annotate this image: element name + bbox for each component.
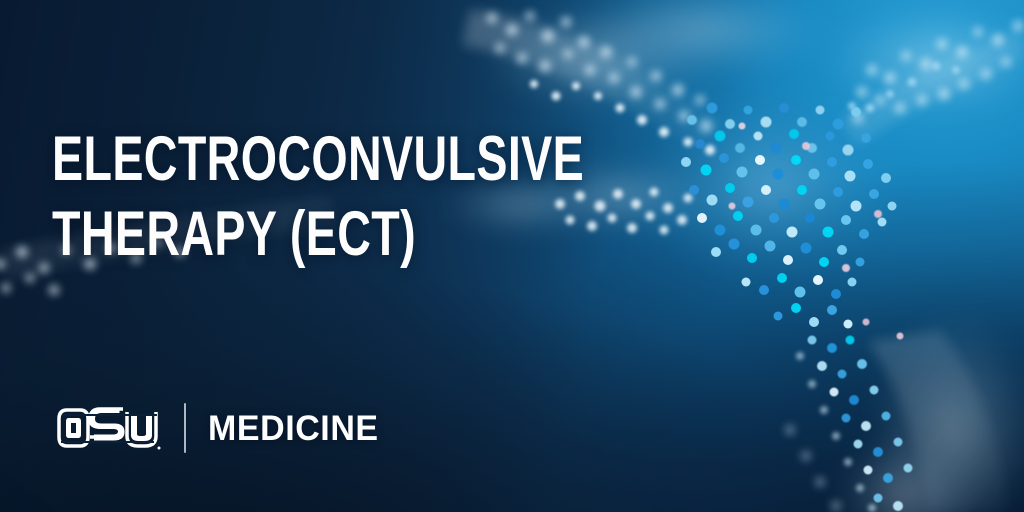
promo-banner: Electroconvulsive Therapy (ECT)	[0, 0, 1024, 512]
logo-wordmark: MEDICINE	[208, 411, 379, 446]
page-title: Electroconvulsive Therapy (ECT)	[52, 122, 511, 272]
brand-logo-lockup[interactable]: MEDICINE	[54, 398, 384, 458]
osu-logo-icon	[54, 400, 162, 456]
logo-divider	[184, 403, 186, 453]
